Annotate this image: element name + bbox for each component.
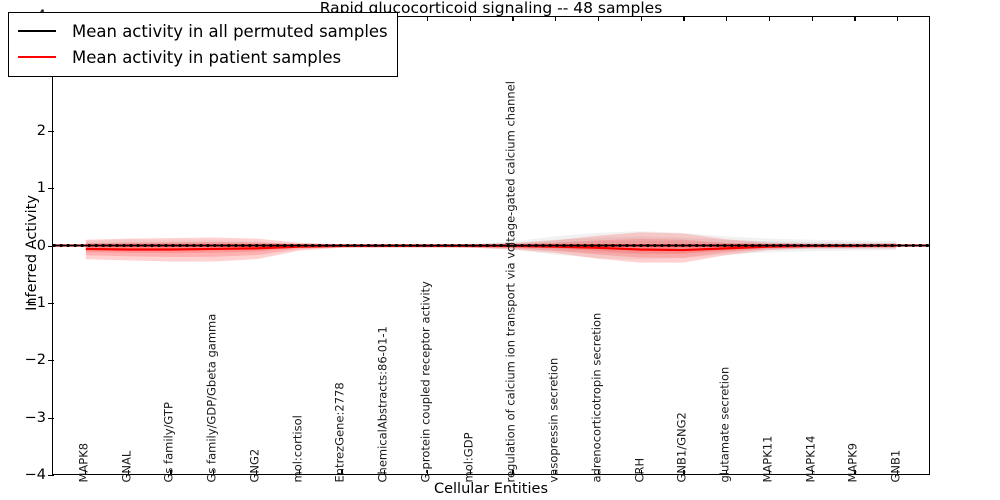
x-tick-label: MAPK9	[848, 443, 860, 483]
x-tick-label: ChemicalAbstracts:86-01-1	[378, 326, 390, 482]
legend: Mean activity in all permuted samplesMea…	[8, 12, 398, 77]
x-tick-mark-top	[897, 16, 898, 21]
y-tick-mark	[48, 131, 54, 132]
legend-line-swatch	[18, 56, 56, 58]
x-tick-label: EntrezGene:2778	[335, 382, 347, 482]
y-tick-mark	[48, 475, 54, 476]
x-tick-label: CRH	[634, 458, 646, 483]
y-tick-label: 2	[6, 123, 46, 139]
y-tick-label: −4	[6, 467, 46, 483]
legend-item: Mean activity in patient samples	[18, 44, 388, 70]
x-tick-mark-top	[470, 16, 471, 21]
y-tick-label: −3	[6, 410, 46, 426]
plot-area	[52, 16, 930, 475]
y-tick-label: −2	[6, 352, 46, 368]
x-tick-mark-top	[427, 16, 428, 21]
data-bands-and-lines	[53, 17, 929, 474]
x-tick-mark-top	[769, 16, 770, 21]
legend-item: Mean activity in all permuted samples	[18, 18, 388, 44]
x-tick-label: MAPK8	[78, 443, 90, 483]
legend-line-swatch	[18, 30, 56, 32]
x-tick-mark-top	[726, 16, 727, 21]
x-tick-mark-top	[854, 16, 855, 21]
x-tick-label: MAPK14	[805, 436, 817, 483]
x-tick-label: vasopressin secretion	[549, 358, 561, 483]
x-tick-label: mol:GDP	[463, 432, 475, 482]
x-tick-label: GNAL	[121, 451, 133, 483]
x-tick-label: Gs family/GDP/Gbeta gamma	[207, 314, 219, 483]
y-tick-label: 1	[6, 180, 46, 196]
x-tick-label: Gs family/GTP	[164, 402, 176, 482]
y-tick-mark	[48, 188, 54, 189]
y-tick-label: −1	[6, 295, 46, 311]
x-tick-label: regulation of calcium ion transport via …	[506, 81, 518, 482]
legend-label: Mean activity in patient samples	[72, 48, 341, 67]
y-tick-label: 0	[6, 238, 46, 254]
x-tick-label: mol:cortisol	[292, 415, 304, 482]
x-tick-label: GNB1/GNG2	[677, 412, 689, 482]
x-tick-mark-top	[641, 16, 642, 21]
x-tick-mark-top	[683, 16, 684, 21]
x-tick-label: GNG2	[249, 449, 261, 483]
y-tick-mark	[48, 246, 54, 247]
x-axis-label: Cellular Entities	[52, 481, 930, 497]
x-tick-mark-top	[598, 16, 599, 21]
x-tick-label: MAPK11	[762, 436, 774, 483]
x-tick-label: GNB1	[891, 450, 903, 483]
x-tick-label: adrenocorticotropin secretion	[591, 313, 603, 483]
legend-label: Mean activity in all permuted samples	[72, 22, 388, 41]
y-tick-mark	[48, 360, 54, 361]
x-tick-label: glutamate secretion	[720, 367, 732, 483]
x-tick-mark-top	[555, 16, 556, 21]
x-tick-mark-top	[812, 16, 813, 21]
x-tick-label: G-protein coupled receptor activity	[420, 281, 432, 482]
y-tick-mark	[48, 303, 54, 304]
y-tick-mark	[48, 418, 54, 419]
x-tick-mark-top	[512, 16, 513, 21]
